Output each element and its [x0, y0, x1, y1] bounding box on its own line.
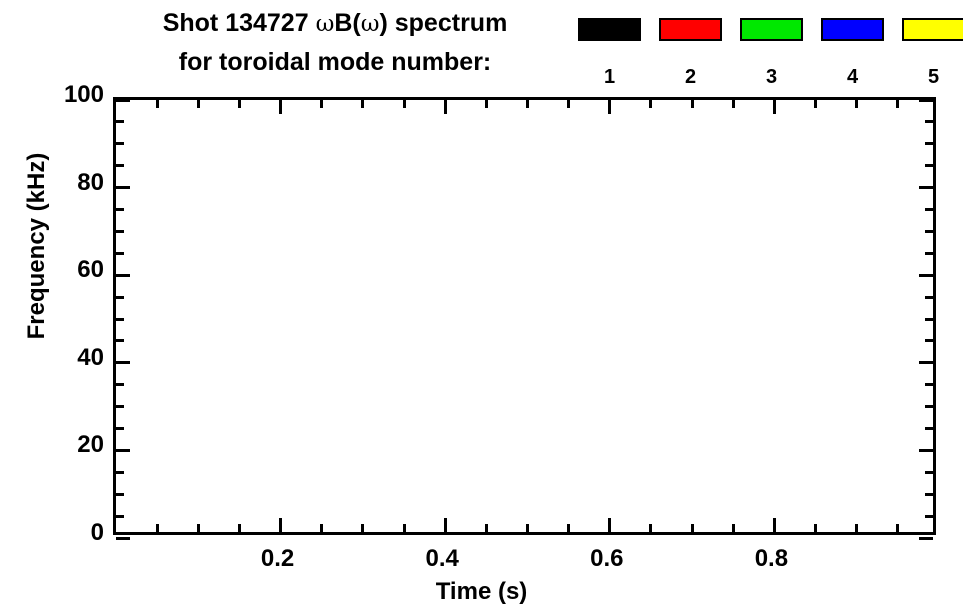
x-tick-label-0.4: 0.4: [397, 545, 487, 573]
y-tick-minor-30: [116, 405, 124, 408]
x-tick-minor-0.95: [896, 524, 899, 532]
x-tick-minor-top-0.75: [732, 100, 735, 108]
x-tick-minor-0.35: [403, 524, 406, 532]
legend-label-1: 1: [578, 66, 641, 89]
x-tick-major-top-0.4: [444, 100, 447, 114]
legend-label-row: 12345: [578, 66, 963, 89]
x-tick-minor-0.7: [691, 524, 694, 532]
y-tick-major-right-100: [919, 99, 933, 102]
x-tick-minor-0.45: [485, 524, 488, 532]
y-tick-minor-right-35: [925, 383, 933, 386]
y-tick-major-20: [116, 449, 130, 452]
y-tick-minor-right-45: [925, 339, 933, 342]
y-tick-minor-right-70: [925, 230, 933, 233]
y-tick-major-100: [116, 99, 130, 102]
y-tick-label-40: 40: [34, 344, 104, 372]
y-tick-minor-right-85: [925, 164, 933, 167]
y-tick-major-right-60: [919, 274, 933, 277]
legend-label-4: 4: [821, 66, 884, 89]
legend-swatch-4: [821, 18, 884, 41]
x-tick-minor-0.3: [361, 524, 364, 532]
y-tick-minor-55: [116, 296, 124, 299]
title-b-open: B(: [334, 9, 360, 37]
x-tick-minor-0.9: [855, 524, 858, 532]
x-tick-major-top-0.8: [773, 100, 776, 114]
y-tick-major-right-0: [919, 537, 933, 540]
y-tick-minor-70: [116, 230, 124, 233]
y-tick-label-0: 0: [34, 519, 104, 547]
x-tick-minor-0.65: [649, 524, 652, 532]
omega-symbol-1: ω: [316, 11, 335, 37]
y-tick-minor-5: [116, 515, 124, 518]
y-tick-minor-95: [116, 120, 124, 123]
x-tick-major-0.4: [444, 518, 447, 532]
y-tick-minor-85: [116, 164, 124, 167]
x-tick-minor-top-0.1: [197, 100, 200, 108]
x-tick-major-top-0.2: [279, 100, 282, 114]
y-tick-major-right-80: [919, 186, 933, 189]
x-tick-minor-top-0.35: [403, 100, 406, 108]
x-tick-minor-0.05: [156, 524, 159, 532]
y-tick-minor-right-50: [925, 318, 933, 321]
y-tick-minor-right-25: [925, 427, 933, 430]
x-tick-minor-top-0.5: [526, 100, 529, 108]
legend-label-2: 2: [659, 66, 722, 89]
chart-title: Shot 134727 ωB(ω) spectrum for toroidal …: [100, 4, 570, 81]
y-tick-minor-right-30: [925, 405, 933, 408]
title-line-2: for toroidal mode number:: [100, 43, 570, 81]
legend-label-5: 5: [902, 66, 963, 89]
x-tick-minor-top-0.45: [485, 100, 488, 108]
legend-swatch-5: [902, 18, 963, 41]
y-tick-minor-35: [116, 383, 124, 386]
x-tick-minor-top-0.3: [361, 100, 364, 108]
plot-frame: [113, 97, 936, 535]
y-tick-major-right-20: [919, 449, 933, 452]
y-tick-minor-90: [116, 142, 124, 145]
title-shot-text: Shot 134727: [163, 9, 316, 37]
y-tick-major-40: [116, 361, 130, 364]
y-tick-label-100: 100: [34, 81, 104, 109]
y-tick-minor-right-65: [925, 252, 933, 255]
legend-swatch-1: [578, 18, 641, 41]
legend-swatch-row: [578, 18, 963, 41]
y-tick-minor-right-90: [925, 142, 933, 145]
x-tick-minor-top-0.55: [567, 100, 570, 108]
y-tick-minor-right-55: [925, 296, 933, 299]
legend-swatch-3: [740, 18, 803, 41]
y-tick-minor-45: [116, 339, 124, 342]
x-tick-minor-0.15: [238, 524, 241, 532]
title-line-1: Shot 134727 ωB(ω) spectrum: [100, 4, 570, 43]
x-tick-minor-0.75: [732, 524, 735, 532]
x-tick-minor-top-0.15: [238, 100, 241, 108]
title-spectrum-text: ) spectrum: [379, 9, 507, 37]
legend-label-3: 3: [740, 66, 803, 89]
x-tick-minor-0.55: [567, 524, 570, 532]
x-tick-minor-0.5: [526, 524, 529, 532]
x-axis-title: Time (s): [0, 578, 963, 606]
y-axis-title: Frequency (kHz): [23, 121, 51, 371]
y-tick-label-20: 20: [34, 431, 104, 459]
x-tick-minor-0.1: [197, 524, 200, 532]
legend-swatch-2: [659, 18, 722, 41]
x-tick-major-0.2: [279, 518, 282, 532]
y-tick-label-60: 60: [34, 256, 104, 284]
y-tick-minor-65: [116, 252, 124, 255]
y-tick-minor-50: [116, 318, 124, 321]
y-tick-minor-right-15: [925, 471, 933, 474]
x-tick-minor-top-0.85: [814, 100, 817, 108]
x-tick-major-top-0.6: [608, 100, 611, 114]
x-tick-label-0.6: 0.6: [562, 545, 652, 573]
x-tick-label-0.2: 0.2: [233, 545, 323, 573]
x-tick-minor-top-0.65: [649, 100, 652, 108]
omega-symbol-2: ω: [361, 11, 380, 37]
x-tick-minor-top-0.25: [320, 100, 323, 108]
y-tick-label-80: 80: [34, 169, 104, 197]
y-tick-major-right-40: [919, 361, 933, 364]
y-tick-major-80: [116, 186, 130, 189]
x-tick-minor-top-0.9: [855, 100, 858, 108]
y-tick-major-60: [116, 274, 130, 277]
y-tick-major-0: [116, 537, 130, 540]
y-tick-minor-right-5: [925, 515, 933, 518]
x-tick-major-0.6: [608, 518, 611, 532]
x-tick-minor-0.25: [320, 524, 323, 532]
y-tick-minor-15: [116, 471, 124, 474]
y-tick-minor-75: [116, 208, 124, 211]
x-tick-major-0.8: [773, 518, 776, 532]
x-tick-minor-top-0.7: [691, 100, 694, 108]
x-tick-minor-top-0.05: [156, 100, 159, 108]
x-tick-label-0.8: 0.8: [726, 545, 816, 573]
figure-root: Shot 134727 ωB(ω) spectrum for toroidal …: [0, 0, 963, 615]
x-tick-minor-0.85: [814, 524, 817, 532]
y-tick-minor-25: [116, 427, 124, 430]
x-tick-minor-top-0.95: [896, 100, 899, 108]
y-tick-minor-right-10: [925, 493, 933, 496]
y-tick-minor-right-95: [925, 120, 933, 123]
legend: 12345: [578, 18, 948, 88]
y-tick-minor-right-75: [925, 208, 933, 211]
y-tick-minor-10: [116, 493, 124, 496]
